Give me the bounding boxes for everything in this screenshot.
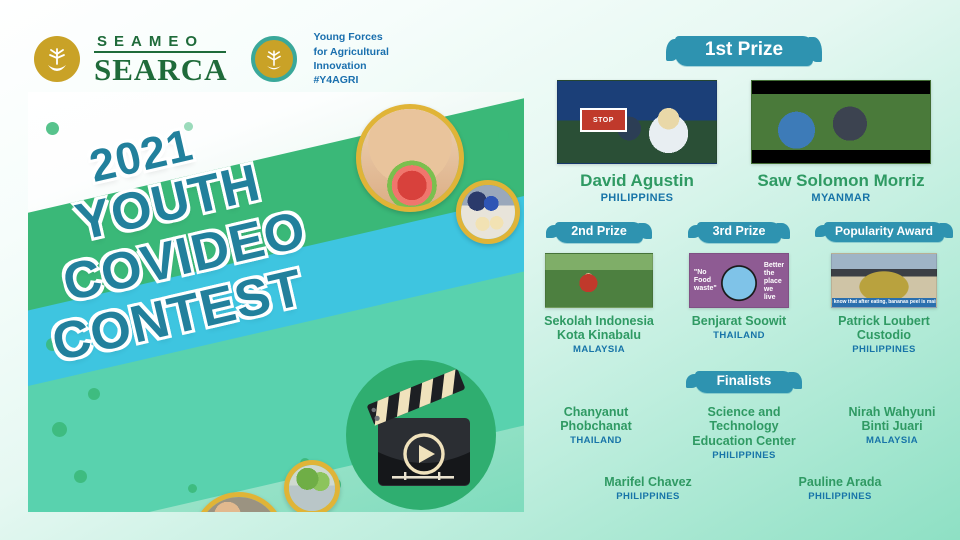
finalist-country: PHILIPPINES xyxy=(588,491,708,502)
seameo-text: SEAMEO xyxy=(94,34,227,49)
video-thumb-sekolah[interactable] xyxy=(545,253,653,308)
finalist-country: PHILIPPINES xyxy=(780,491,900,502)
finalist-name: Chanyanut Phobchanat xyxy=(538,405,654,435)
winner-country: MYANMAR xyxy=(751,192,931,204)
badge-popularity-award: Popularity Award xyxy=(824,222,944,242)
photo-child-watermelon xyxy=(356,104,464,212)
winner-name: Saw Solomon Morriz xyxy=(751,171,931,190)
winner-country: PHILIPPINES xyxy=(814,344,954,355)
badge-finalists-label: Finalists xyxy=(717,373,772,388)
finalist-country: MALAYSIA xyxy=(834,435,950,446)
winner-name: David Agustin xyxy=(557,171,717,190)
video-thumb-saw[interactable] xyxy=(751,80,931,164)
finalist-country: PHILIPPINES xyxy=(679,450,809,461)
winner-country: THAILAND xyxy=(674,330,804,341)
photo-children-table xyxy=(456,180,520,244)
finalist-item: Marifel Chavez PHILIPPINES xyxy=(588,475,708,502)
video-thumb-david[interactable]: STOP xyxy=(557,80,717,164)
badge-second-prize-label: 2nd Prize xyxy=(571,224,627,238)
photo-lettuce-hydroponics xyxy=(284,460,340,512)
finalist-country: THAILAND xyxy=(538,435,654,446)
winner-card-sekolah[interactable]: Sekolah Indonesia Kota Kinabalu MALAYSIA xyxy=(534,253,664,355)
poster-panel: 2021 YOUTH COVIDEO CONTEST xyxy=(28,92,524,512)
winner-card-benjarat[interactable]: "No Food waste" Better the place we live… xyxy=(674,253,804,341)
stop-sign-overlay: STOP xyxy=(580,108,627,133)
y4agri-line-3: Innovation xyxy=(313,59,388,73)
badge-third-prize: 3rd Prize xyxy=(697,222,782,243)
searca-text: SEARCA xyxy=(94,54,227,85)
winners-panel: 1st Prize STOP David Agustin PHILIPPINES… xyxy=(528,0,960,540)
y4agri-circle-icon xyxy=(251,36,297,82)
thumb-text-left: "No Food waste" xyxy=(694,269,717,293)
finalist-name: Pauline Arada xyxy=(780,475,900,490)
y4agri-hashtag: #Y4AGRI xyxy=(313,73,388,87)
thumb-caption: Did you know that after eating, bananas … xyxy=(832,298,937,306)
thumb-text-right: Better the place we live xyxy=(764,262,784,302)
badge-second-prize: 2nd Prize xyxy=(555,222,643,243)
searca-wordmark: SEAMEO SEARCA xyxy=(94,34,227,85)
winner-country: PHILIPPINES xyxy=(557,192,717,204)
winner-card-patrick[interactable]: Did you know that after eating, bananas … xyxy=(814,253,954,355)
winner-name: Sekolah Indonesia Kota Kinabalu xyxy=(534,314,664,342)
video-thumb-patrick[interactable]: Did you know that after eating, bananas … xyxy=(831,253,937,308)
winner-name: Benjarat Soowit xyxy=(674,314,804,328)
decorative-dot xyxy=(74,470,87,483)
finalist-name: Nirah Wahyuni Binti Juari xyxy=(834,405,950,435)
finalist-name: Marifel Chavez xyxy=(588,475,708,490)
finalist-item: Science and Technology Education Center … xyxy=(679,405,809,461)
badge-first-prize-label: 1st Prize xyxy=(705,39,783,60)
badge-first-prize: 1st Prize xyxy=(675,36,813,66)
decorative-dot xyxy=(52,422,67,437)
decorative-dot xyxy=(46,122,59,135)
winner-name: Patrick Loubert Custodio xyxy=(814,314,954,342)
finalist-item: Chanyanut Phobchanat THAILAND xyxy=(538,405,654,447)
video-thumb-benjarat[interactable]: "No Food waste" Better the place we live xyxy=(689,253,789,308)
badge-third-prize-label: 3rd Prize xyxy=(713,224,766,238)
decorative-dot xyxy=(188,484,197,493)
y4agri-text-block: Young Forces for Agricultural Innovation… xyxy=(313,30,388,88)
decorative-dot xyxy=(498,130,509,141)
winner-card-david[interactable]: STOP David Agustin PHILIPPINES xyxy=(557,80,717,204)
finalist-item: Pauline Arada PHILIPPINES xyxy=(780,475,900,502)
finalist-name: Science and Technology Education Center xyxy=(679,405,809,449)
searca-seal-icon xyxy=(34,36,80,82)
winner-card-saw[interactable]: Saw Solomon Morriz MYANMAR xyxy=(751,80,931,204)
badge-finalists: Finalists xyxy=(695,371,794,393)
header-logos: SEAMEO SEARCA Young Forces for Agricultu… xyxy=(34,28,389,90)
decorative-dot xyxy=(88,388,100,400)
clapperboard-icon xyxy=(346,360,496,510)
badge-popularity-award-label: Popularity Award xyxy=(835,224,933,238)
y4agri-line-2: for Agricultural xyxy=(313,45,388,59)
y4agri-line-1: Young Forces xyxy=(313,30,388,44)
winner-country: MALAYSIA xyxy=(534,344,664,355)
finalist-item: Nirah Wahyuni Binti Juari MALAYSIA xyxy=(834,405,950,447)
